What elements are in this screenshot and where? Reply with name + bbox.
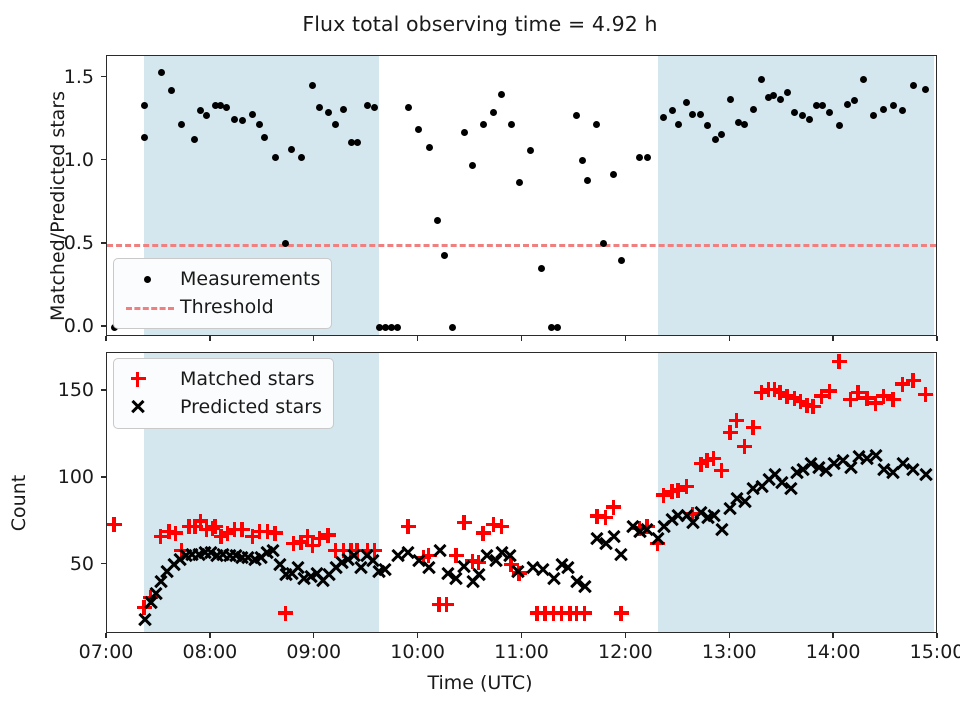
data-point <box>434 217 441 224</box>
data-point <box>332 121 339 128</box>
bottom-y-axis-label: Count <box>8 423 30 583</box>
x-tick <box>936 633 937 638</box>
data-point <box>461 129 468 136</box>
x-tick <box>729 336 730 341</box>
data-point <box>178 121 185 128</box>
data-point <box>508 121 515 128</box>
data-point <box>394 324 401 331</box>
predicted-star-marker <box>511 564 526 579</box>
data-point <box>272 154 279 161</box>
y-tick <box>101 476 106 477</box>
data-point <box>239 117 246 124</box>
data-point <box>158 69 165 76</box>
matched-star-marker <box>577 606 592 621</box>
data-point <box>498 91 505 98</box>
data-point <box>844 101 851 108</box>
data-point <box>405 104 412 111</box>
legend-label-threshold: Threshold <box>176 296 274 318</box>
data-point <box>256 121 263 128</box>
matched-star-marker <box>906 373 921 388</box>
data-point <box>610 171 617 178</box>
matched-star-marker <box>457 515 472 530</box>
shaded-interval-2 <box>658 56 934 335</box>
predicted-star-marker <box>714 522 729 537</box>
matched-star-marker <box>278 606 293 621</box>
matched-star-marker <box>737 439 752 454</box>
predicted-star-marker <box>422 561 437 576</box>
matched-star-marker <box>439 597 454 612</box>
x-tick <box>521 633 522 638</box>
legend-item-predicted-stars[interactable]: Predicted stars <box>124 393 322 421</box>
data-point <box>784 89 791 96</box>
x-tick-label: 13:00 <box>702 641 757 663</box>
threshold-line <box>107 244 936 247</box>
matched-star-marker <box>606 500 621 515</box>
data-point <box>415 126 422 133</box>
legend-item-threshold[interactable]: Threshold <box>124 293 320 321</box>
legend-label-measurements: Measurements <box>176 268 320 290</box>
data-point <box>469 162 476 169</box>
x-tick <box>105 336 106 341</box>
predicted-star-marker <box>471 568 486 583</box>
data-point <box>449 324 456 331</box>
threshold-line-icon <box>124 296 176 318</box>
matched-star-marker <box>494 519 509 534</box>
data-point <box>249 111 256 118</box>
matched-stars-marker-icon <box>124 368 176 390</box>
predicted-star-marker <box>378 562 393 577</box>
top-y-axis-label: Matched/Predicted stars <box>47 76 69 336</box>
matched-star-marker <box>822 384 837 399</box>
data-point <box>141 134 148 141</box>
figure-root: Flux total observing time = 4.92 h 0.00.… <box>0 0 960 720</box>
data-point <box>191 136 198 143</box>
data-point <box>288 146 295 153</box>
x-tick-label: 14:00 <box>806 641 861 663</box>
x-tick <box>417 633 418 638</box>
data-point <box>480 121 487 128</box>
data-point <box>758 76 765 83</box>
data-point <box>741 121 748 128</box>
data-point <box>516 179 523 186</box>
matched-star-marker <box>614 606 629 621</box>
x-tick-label: 12:00 <box>598 641 653 663</box>
matched-star-marker <box>107 517 122 532</box>
matched-star-marker <box>321 528 336 543</box>
data-point <box>669 107 676 114</box>
data-point <box>490 109 497 116</box>
legend-item-matched-stars[interactable]: Matched stars <box>124 365 322 393</box>
matched-star-marker <box>886 392 901 407</box>
x-tick <box>832 633 833 638</box>
measurements-marker-icon <box>124 268 176 290</box>
matched-star-marker <box>746 420 761 435</box>
data-point <box>922 86 929 93</box>
data-point <box>340 106 347 113</box>
data-point <box>223 104 230 111</box>
predicted-star-marker <box>606 529 621 544</box>
legend-item-measurements[interactable]: Measurements <box>124 265 320 293</box>
predicted-star-marker <box>737 495 752 510</box>
x-tick <box>625 336 626 341</box>
matched-star-marker <box>401 519 416 534</box>
data-point <box>527 147 534 154</box>
x-tick <box>729 633 730 638</box>
data-point <box>298 154 305 161</box>
data-point <box>860 76 867 83</box>
matched-star-marker <box>729 413 744 428</box>
matched-star-marker <box>832 354 847 369</box>
predicted-star-marker <box>546 571 561 586</box>
predicted-star-marker <box>614 547 629 562</box>
predicted-star-marker <box>457 559 472 574</box>
data-point <box>538 265 545 272</box>
y-tick <box>101 563 106 564</box>
matched-star-marker <box>918 387 933 402</box>
x-tick-label: 09:00 <box>286 641 341 663</box>
x-tick-label: 11:00 <box>494 641 549 663</box>
legend-label-matched-stars: Matched stars <box>176 368 314 390</box>
data-point <box>584 177 591 184</box>
predicted-star-marker <box>918 467 933 482</box>
data-point <box>325 109 332 116</box>
predicted-star-marker <box>266 543 281 558</box>
data-point <box>806 116 813 123</box>
predicted-star-marker <box>561 561 576 576</box>
y-tick <box>101 325 106 326</box>
data-point <box>644 154 651 161</box>
x-tick <box>313 336 314 341</box>
predicted-star-marker <box>783 481 798 496</box>
predicted-stars-marker-icon <box>124 396 176 418</box>
matched-star-marker <box>268 526 283 541</box>
data-point <box>750 106 757 113</box>
data-point <box>554 324 561 331</box>
x-tick <box>313 633 314 638</box>
bottom-panel-legend: Matched stars Predicted stars <box>113 358 334 429</box>
data-point <box>573 112 580 119</box>
data-point <box>636 154 643 161</box>
predicted-star-marker <box>432 543 447 558</box>
data-point <box>579 157 586 164</box>
predicted-star-marker <box>577 580 592 595</box>
x-tick-label: 08:00 <box>182 641 237 663</box>
data-point <box>777 96 784 103</box>
data-point <box>593 121 600 128</box>
x-tick <box>521 336 522 341</box>
y-tick-label: 150 <box>6 379 94 401</box>
data-point <box>441 252 448 259</box>
x-tick-label: 07:00 <box>79 641 134 663</box>
x-axis-label: Time (UTC) <box>0 672 960 694</box>
x-tick <box>936 336 937 341</box>
data-point <box>426 144 433 151</box>
x-tick <box>417 336 418 341</box>
predicted-star-marker <box>868 448 883 463</box>
x-tick <box>105 633 106 638</box>
figure-title: Flux total observing time = 4.92 h <box>0 12 960 36</box>
data-point <box>910 82 917 89</box>
data-point <box>618 257 625 264</box>
data-point <box>727 96 734 103</box>
data-point <box>697 111 704 118</box>
top-panel-legend: Measurements Threshold <box>113 258 332 329</box>
data-point <box>675 121 682 128</box>
data-point <box>231 116 238 123</box>
x-tick <box>625 633 626 638</box>
y-tick <box>101 76 106 77</box>
x-tick <box>209 633 210 638</box>
predicted-star-marker <box>137 613 152 628</box>
y-tick <box>101 242 106 243</box>
x-tick-label: 10:00 <box>390 641 445 663</box>
matched-star-marker <box>714 463 729 478</box>
legend-label-predicted-stars: Predicted stars <box>176 396 322 418</box>
predicted-star-marker <box>706 509 721 524</box>
x-tick <box>832 336 833 341</box>
x-tick <box>209 336 210 341</box>
matched-star-marker <box>679 479 694 494</box>
x-tick-label: 15:00 <box>910 641 960 663</box>
y-tick <box>101 159 106 160</box>
y-tick <box>101 389 106 390</box>
predicted-star-marker <box>503 548 518 563</box>
data-point <box>354 139 361 146</box>
